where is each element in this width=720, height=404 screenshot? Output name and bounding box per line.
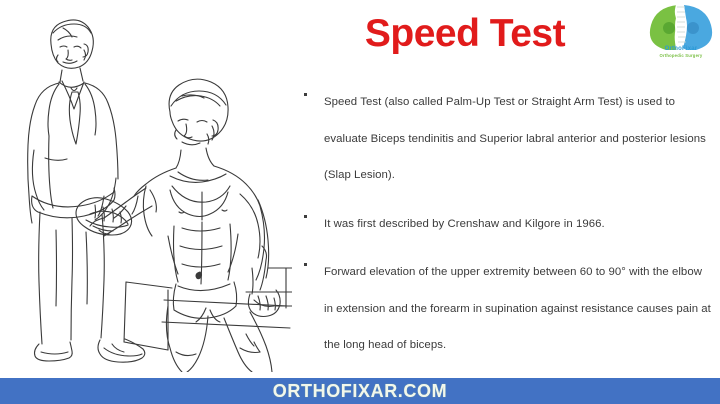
speed-test-illustration <box>0 0 292 372</box>
bullet-list: Speed Test (also called Palm-Up Test or … <box>300 84 712 376</box>
bullet-text: Speed Test (also called Palm-Up Test or … <box>324 96 706 181</box>
logo-subtitle: Orthopedic Surgery <box>645 53 717 59</box>
list-item: It was first described by Crenshaw and K… <box>300 206 712 243</box>
slide-canvas: Speed Test OrthoFixar Orthopedic Surgery <box>0 0 720 404</box>
page-title: Speed Test <box>300 12 630 56</box>
footer-banner: ORTHOFIXAR.COM <box>0 378 720 404</box>
square-bullet-icon <box>304 215 307 218</box>
square-bullet-icon <box>304 93 307 96</box>
bullet-text: It was first described by Crenshaw and K… <box>324 218 605 230</box>
bullet-text: Forward elevation of the upper extremity… <box>324 266 711 351</box>
square-bullet-icon <box>304 263 307 266</box>
footer-website-text: ORTHOFIXAR.COM <box>273 381 447 402</box>
list-item: Forward elevation of the upper extremity… <box>300 254 712 364</box>
orthofixar-logo: OrthoFixar Orthopedic Surgery <box>645 2 717 74</box>
logo-mark-icon <box>645 2 717 50</box>
list-item: Speed Test (also called Palm-Up Test or … <box>300 84 712 194</box>
logo-name: OrthoFixar <box>645 46 717 53</box>
